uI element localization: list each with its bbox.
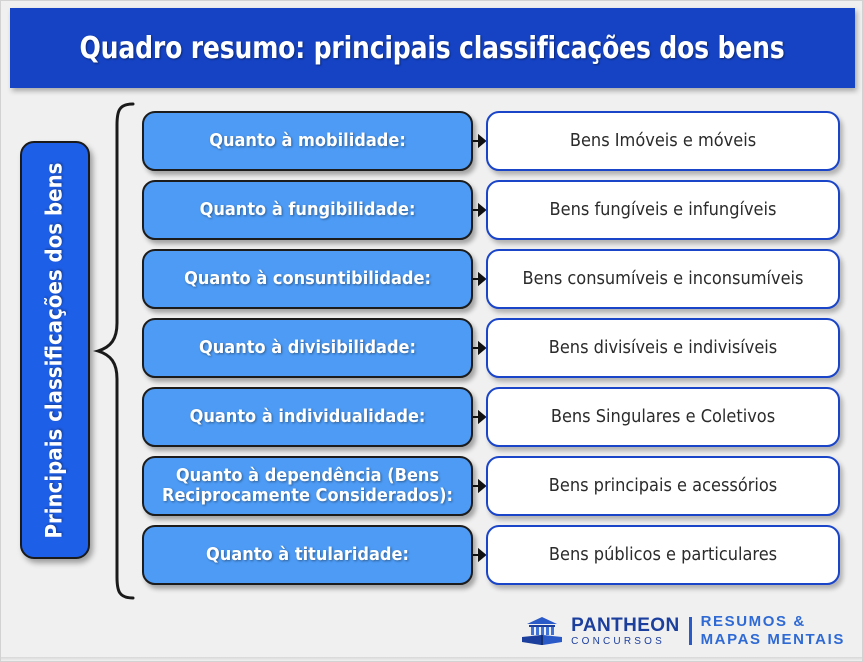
category-box[interactable]: Quanto à fungibilidade: — [142, 180, 473, 240]
value-label: Bens públicos e particulares — [549, 545, 777, 566]
category-box[interactable]: Quanto à divisibilidade: — [142, 318, 473, 378]
logo-brand-sub: CONCURSOS — [571, 637, 679, 647]
category-label: Quanto à consuntibilidade: — [184, 269, 431, 289]
value-box[interactable]: Bens Imóveis e móveis — [486, 111, 840, 171]
category-box[interactable]: Quanto à dependência (Bens Reciprocament… — [142, 456, 473, 516]
bottom-edge-shadow — [1, 657, 863, 661]
category-label: Quanto à dependência (Bens Reciprocament… — [154, 466, 461, 506]
category-label: Quanto à titularidade: — [206, 545, 409, 565]
header-banner: Quadro resumo: principais classificações… — [10, 8, 855, 88]
value-box[interactable]: Bens divisíveis e indivisíveis — [486, 318, 840, 378]
value-label: Bens principais e acessórios — [549, 476, 778, 497]
value-box[interactable]: Bens principais e acessórios — [486, 456, 840, 516]
arrow-right-icon — [473, 387, 486, 447]
value-label: Bens consumíveis e inconsumíveis — [522, 269, 803, 290]
value-label: Bens divisíveis e indivisíveis — [549, 338, 778, 359]
arrow-right-icon — [473, 525, 486, 585]
logo-brand-block: PANTHEON CONCURSOS — [571, 616, 679, 647]
arrow-right-icon — [473, 249, 486, 309]
category-label: Quanto à individualidade: — [190, 407, 426, 427]
table-row: Quanto à dependência (Bens Reciprocament… — [142, 456, 842, 516]
infographic-page: Quadro resumo: principais classificações… — [0, 0, 863, 662]
value-label: Bens Imóveis e móveis — [570, 131, 756, 152]
logo-wordmark: PANTHEON CONCURSOS RESUMOS & MAPAS MENTA… — [571, 613, 845, 648]
classification-rows: Quanto à mobilidade: Bens Imóveis e móve… — [142, 111, 842, 585]
table-row: Quanto à mobilidade: Bens Imóveis e móve… — [142, 111, 842, 171]
category-box[interactable]: Quanto à mobilidade: — [142, 111, 473, 171]
value-label: Bens Singulares e Coletivos — [551, 407, 775, 428]
logo-tagline-line2: MAPAS MENTAIS — [701, 631, 845, 649]
category-box[interactable]: Quanto à titularidade: — [142, 525, 473, 585]
table-row: Quanto à consuntibilidade: Bens consumív… — [142, 249, 842, 309]
table-row: Quanto à divisibilidade: Bens divisíveis… — [142, 318, 842, 378]
logo-divider — [689, 617, 692, 645]
category-label: Quanto à fungibilidade: — [200, 200, 416, 220]
category-box[interactable]: Quanto à consuntibilidade: — [142, 249, 473, 309]
logo-brand-name: PANTHEON — [571, 616, 679, 635]
side-label-box: Principais classificações dos bens — [20, 141, 90, 559]
curly-brace-icon — [93, 101, 139, 601]
value-label: Bens fungíveis e infungíveis — [550, 200, 777, 221]
pantheon-temple-book-icon — [520, 616, 564, 646]
value-box[interactable]: Bens Singulares e Coletivos — [486, 387, 840, 447]
value-box[interactable]: Bens consumíveis e inconsumíveis — [486, 249, 840, 309]
table-row: Quanto à individualidade: Bens Singulare… — [142, 387, 842, 447]
category-label: Quanto à divisibilidade: — [199, 338, 416, 358]
arrow-right-icon — [473, 318, 486, 378]
arrow-right-icon — [473, 111, 486, 171]
table-row: Quanto à titularidade: Bens públicos e p… — [142, 525, 842, 585]
logo-tagline-block: RESUMOS & MAPAS MENTAIS — [701, 613, 845, 648]
brand-logo: PANTHEON CONCURSOS RESUMOS & MAPAS MENTA… — [520, 613, 845, 649]
side-label-text: Principais classificações dos bens — [43, 162, 68, 538]
value-box[interactable]: Bens fungíveis e infungíveis — [486, 180, 840, 240]
table-row: Quanto à fungibilidade: Bens fungíveis e… — [142, 180, 842, 240]
page-title: Quadro resumo: principais classificações… — [80, 31, 785, 66]
category-label: Quanto à mobilidade: — [209, 131, 406, 151]
value-box[interactable]: Bens públicos e particulares — [486, 525, 840, 585]
category-box[interactable]: Quanto à individualidade: — [142, 387, 473, 447]
arrow-right-icon — [473, 456, 486, 516]
arrow-right-icon — [473, 180, 486, 240]
logo-tagline-line1: RESUMOS & — [701, 613, 845, 631]
